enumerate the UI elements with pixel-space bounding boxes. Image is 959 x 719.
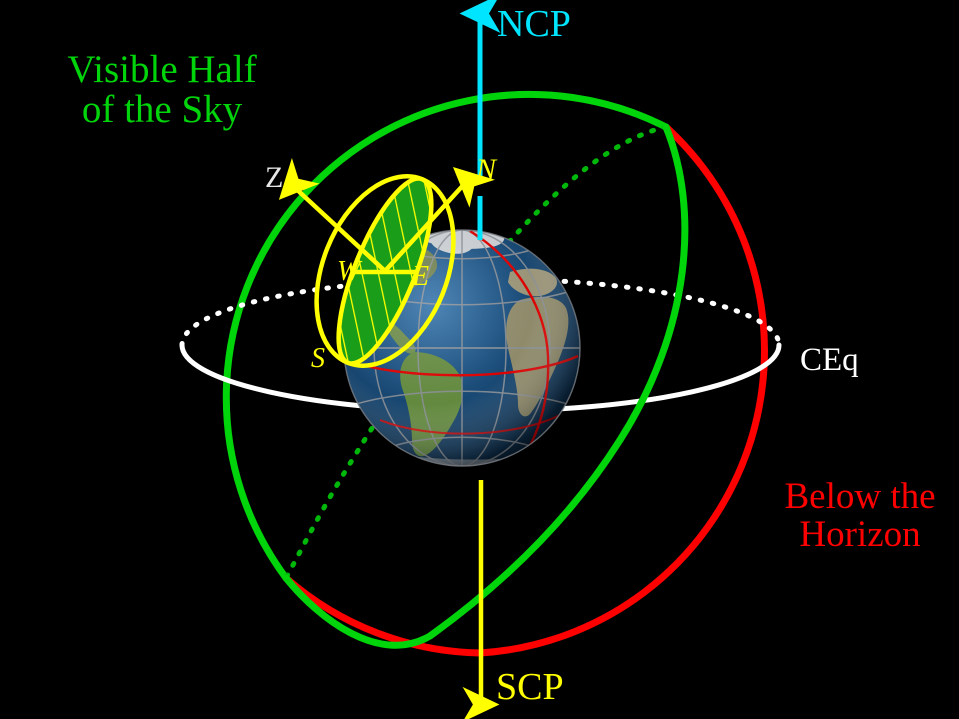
label-ceq: CEq (800, 344, 859, 378)
label-east: E (412, 263, 429, 292)
label-south: S (311, 345, 325, 374)
label-ncp: NCP (497, 5, 571, 44)
label-scp: SCP (496, 668, 564, 707)
celestial-sphere-diagram: Visible Half of the Sky Below the Horizo… (0, 0, 959, 719)
label-west: W (337, 258, 360, 287)
label-zenith: Z (265, 163, 283, 194)
label-below-the-horizon: Below the Horizon (762, 478, 958, 553)
label-visible-half-of-the-sky: Visible Half of the Sky (46, 50, 278, 130)
label-north: N (476, 155, 496, 186)
